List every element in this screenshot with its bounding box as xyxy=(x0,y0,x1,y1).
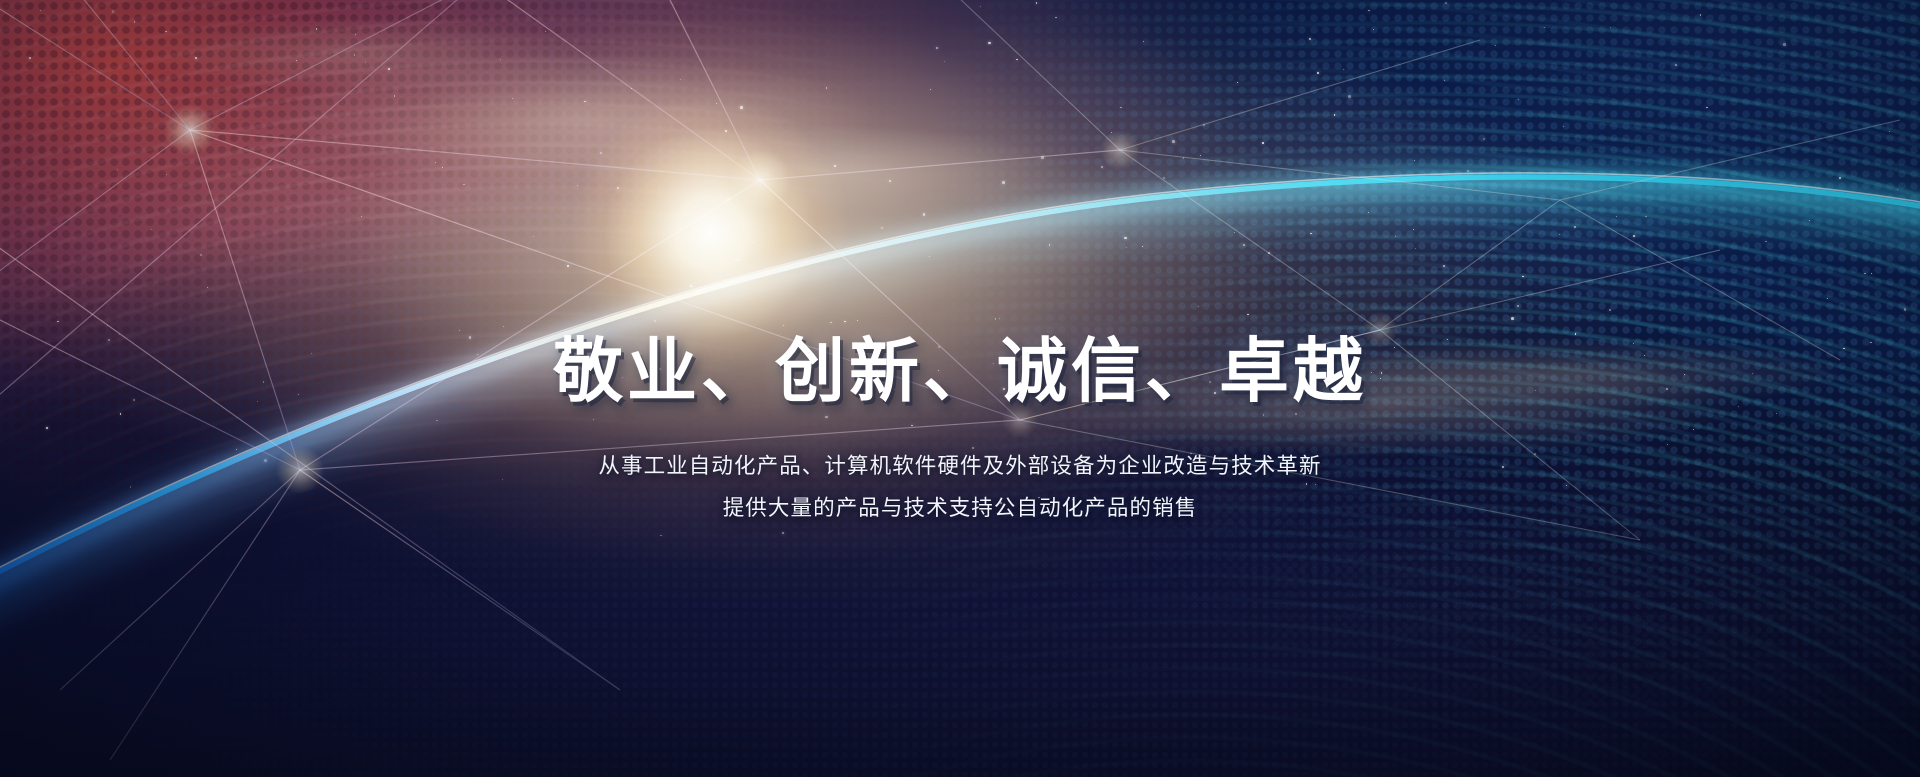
hero-banner: 敬业、创新、诚信、卓越 从事工业自动化产品、计算机软件硬件及外部设备为企业改造与… xyxy=(0,0,1920,777)
banner-content: 敬业、创新、诚信、卓越 从事工业自动化产品、计算机软件硬件及外部设备为企业改造与… xyxy=(0,0,1920,777)
banner-subtitle-line-1: 从事工业自动化产品、计算机软件硬件及外部设备为企业改造与技术革新 xyxy=(598,446,1321,488)
banner-headline: 敬业、创新、诚信、卓越 xyxy=(553,336,1367,406)
banner-subtitle: 从事工业自动化产品、计算机软件硬件及外部设备为企业改造与技术革新 提供大量的产品… xyxy=(598,446,1321,530)
banner-subtitle-line-2: 提供大量的产品与技术支持公自动化产品的销售 xyxy=(598,488,1321,530)
